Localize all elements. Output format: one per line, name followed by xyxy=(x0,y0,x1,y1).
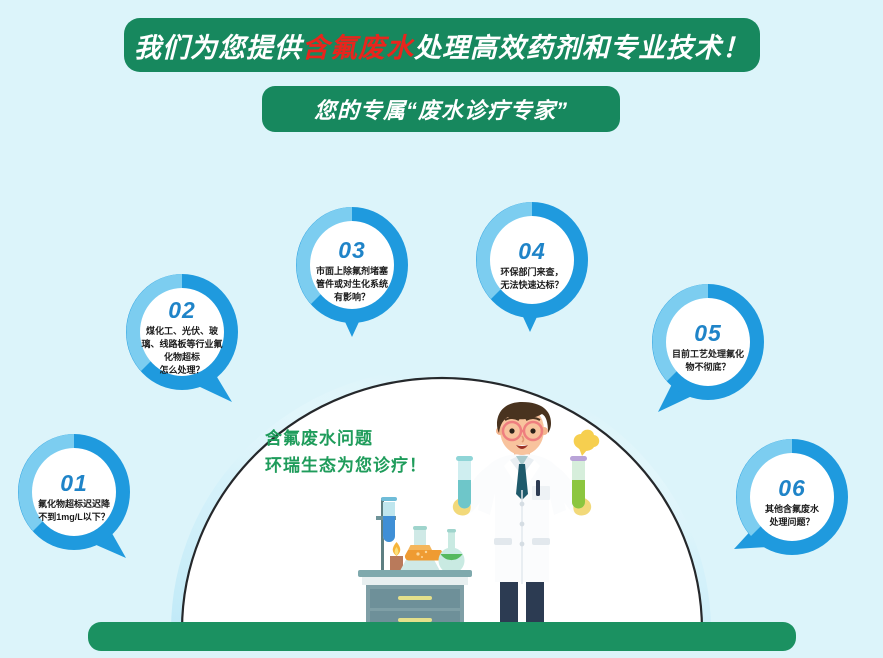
headline-banner: 我们为您提供含氟废水处理高效药剂和专业技术！ xyxy=(124,18,760,72)
bubble-number-04: 04 xyxy=(518,240,546,263)
bubble-text-line: 氟化物超标迟迟降 xyxy=(28,498,120,511)
bubble-text-line: 煤化工、光伏、玻 xyxy=(136,325,228,338)
bubble-number-05: 05 xyxy=(694,322,722,345)
bubble-text-line: 璃、线路板等行业氟 xyxy=(136,338,228,351)
bubble-text-line: 其他含氟废水 xyxy=(746,503,838,516)
bubble-text-01: 氟化物超标迟迟降 不到1mg/L以下？ xyxy=(28,498,120,524)
bubble-text-line: 管件或对生化系统 xyxy=(306,278,398,291)
bubble-text-line: 怎么处理？ xyxy=(136,364,228,377)
scientist-illustration xyxy=(438,398,606,626)
bubble-number-02: 02 xyxy=(168,299,196,322)
bubble-content-05: 05 目前工艺处理氟化 物不彻底？ xyxy=(662,294,754,402)
bubble-text-02: 煤化工、光伏、玻 璃、线路板等行业氟 化物超标 怎么处理？ xyxy=(136,325,228,377)
center-tagline-line2: 环瑞生态为您诊疗！ xyxy=(265,452,427,479)
bubble-text-line: 不到1mg/L以下？ xyxy=(28,511,120,524)
bubble-text-line: 目前工艺处理氟化 xyxy=(662,348,754,361)
bubble-content-01: 01 氟化物超标迟迟降 不到1mg/L以下？ xyxy=(28,444,120,552)
question-bubble-02[interactable]: 02 煤化工、光伏、玻 璃、线路板等行业氟 化物超标 怎么处理？ xyxy=(122,272,242,404)
question-bubble-06[interactable]: 06 其他含氟废水 处理问题？ xyxy=(732,437,852,569)
bubble-text-04: 环保部门来查， 无法快速达标？ xyxy=(486,266,578,292)
bubble-content-03: 03 市面上除氟剂堵塞 管件或对生化系统 有影响？ xyxy=(306,217,398,325)
headline-part-after: 处理高效药剂和专业技术！ xyxy=(414,26,750,65)
bubble-text-line: 处理问题？ xyxy=(746,516,838,529)
center-tagline: 含氟废水问题 环瑞生态为您诊疗！ xyxy=(265,425,427,479)
center-tagline-line1: 含氟废水问题 xyxy=(265,425,427,452)
subheadline-banner: 您的专属“废水诊疗专家” xyxy=(262,86,620,132)
bubble-text-line: 化物超标 xyxy=(136,351,228,364)
question-bubble-01[interactable]: 01 氟化物超标迟迟降 不到1mg/L以下？ xyxy=(14,432,134,564)
bubble-text-line: 环保部门来查， xyxy=(486,266,578,279)
bubble-text-line: 无法快速达标？ xyxy=(486,279,578,292)
bottom-green-bar xyxy=(88,622,796,651)
bubble-text-03: 市面上除氟剂堵塞 管件或对生化系统 有影响？ xyxy=(306,265,398,304)
question-bubble-03[interactable]: 03 市面上除氟剂堵塞 管件或对生化系统 有影响？ xyxy=(292,205,412,337)
bubble-content-04: 04 环保部门来查， 无法快速达标？ xyxy=(486,212,578,320)
bubble-text-line: 物不彻底？ xyxy=(662,361,754,374)
bubble-text-06: 其他含氟废水 处理问题？ xyxy=(746,503,838,529)
bubble-text-line: 市面上除氟剂堵塞 xyxy=(306,265,398,278)
bubble-text-line: 有影响？ xyxy=(306,291,398,304)
bubble-number-06: 06 xyxy=(778,477,806,500)
bubble-content-06: 06 其他含氟废水 处理问题？ xyxy=(746,449,838,557)
question-bubble-04[interactable]: 04 环保部门来查， 无法快速达标？ xyxy=(472,200,592,332)
bubble-number-01: 01 xyxy=(60,472,88,495)
bubble-text-05: 目前工艺处理氟化 物不彻底？ xyxy=(662,348,754,374)
headline-part-before: 我们为您提供 xyxy=(134,26,302,65)
subheadline-text: 您的专属“废水诊疗专家” xyxy=(314,93,568,125)
poster-canvas: 含氟废水问题 环瑞生态为您诊疗！ 我们为您提供含氟废水处理高效药剂和专业技术！ … xyxy=(0,0,883,658)
bubble-content-02: 02 煤化工、光伏、玻 璃、线路板等行业氟 化物超标 怎么处理？ xyxy=(136,284,228,392)
bubble-number-03: 03 xyxy=(338,239,366,262)
headline-highlight: 含氟废水 xyxy=(302,26,414,65)
question-bubble-05[interactable]: 05 目前工艺处理氟化 物不彻底？ xyxy=(648,282,768,414)
